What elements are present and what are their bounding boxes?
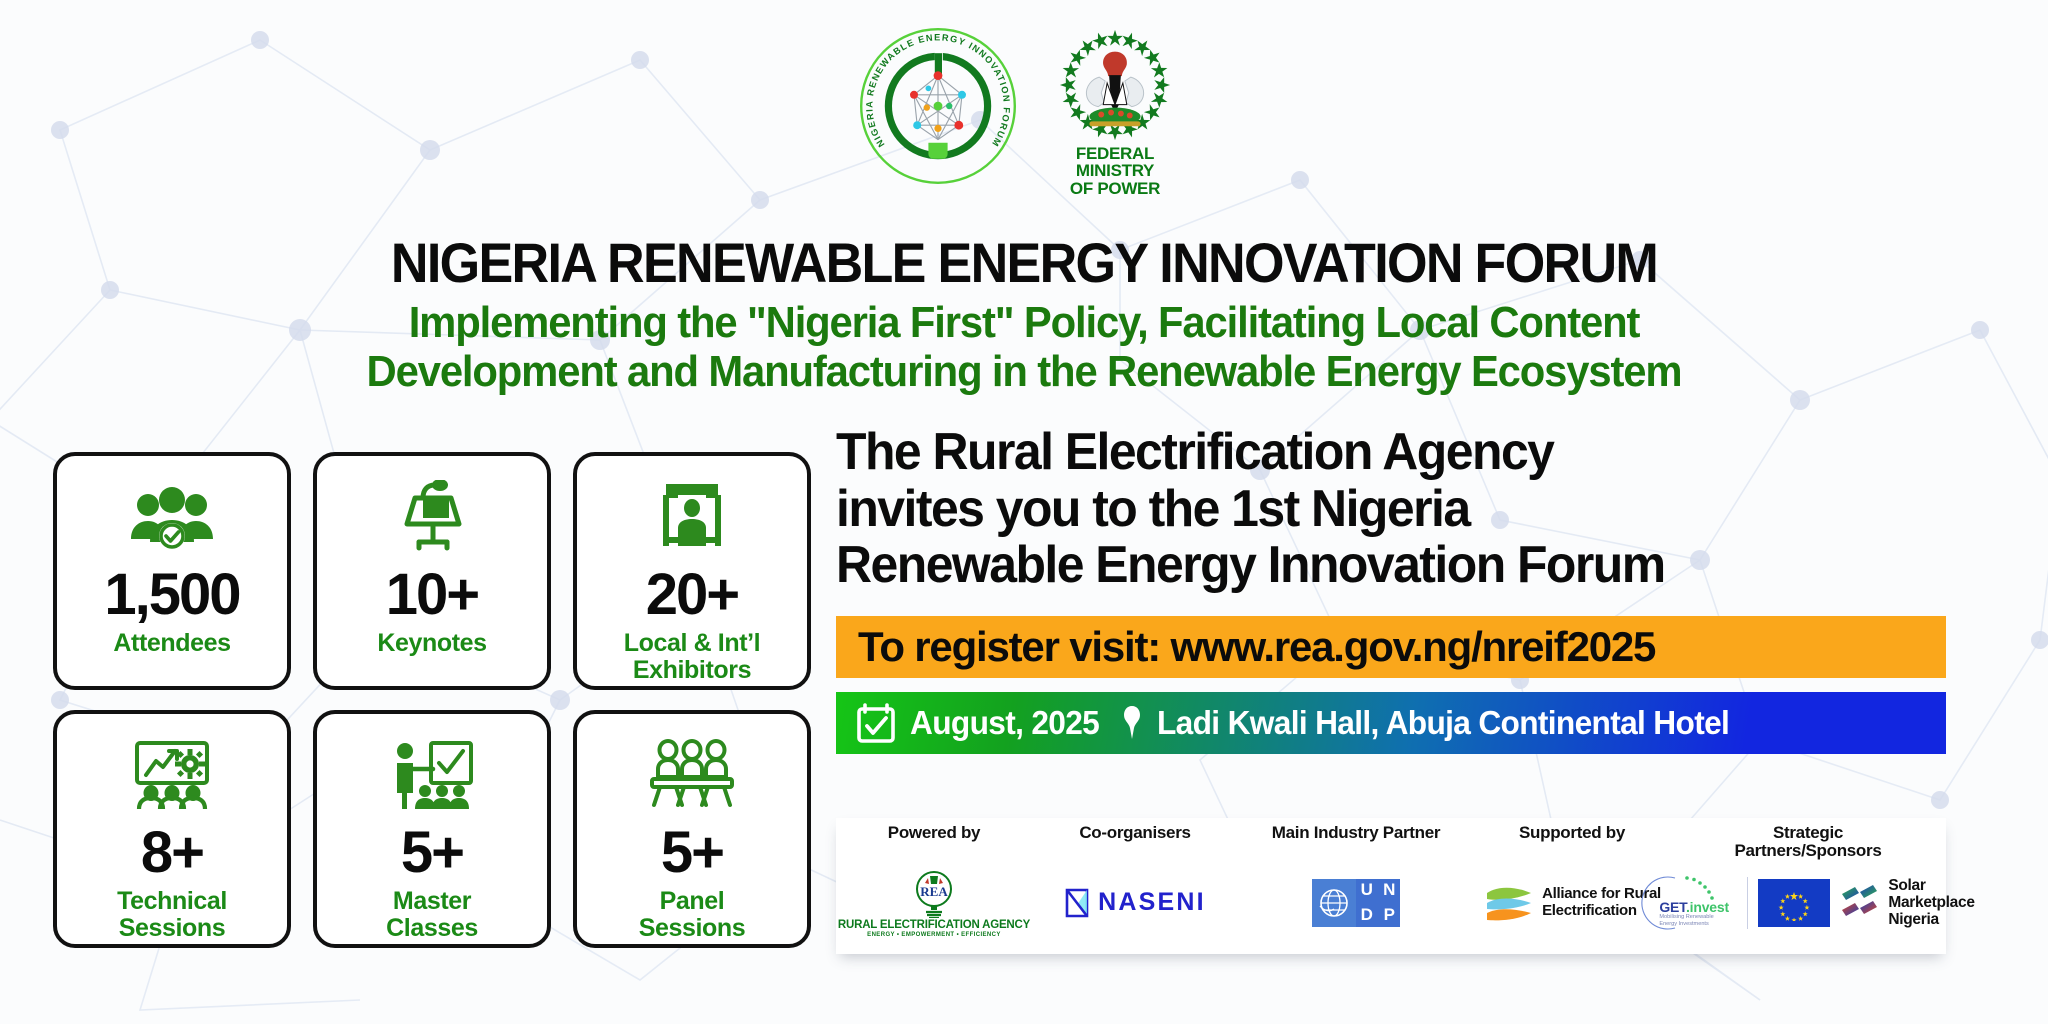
are-waves-icon — [1483, 879, 1535, 927]
event-subtitle: Implementing the "Nigeria First" Policy,… — [51, 298, 1997, 397]
solar-line-3: Nigeria — [1888, 911, 1974, 928]
stat-number: 5+ — [661, 824, 723, 882]
teacher-whiteboard-icon — [389, 736, 475, 814]
undp-letter: P — [1379, 903, 1401, 927]
getinvest-accent: .invest — [1686, 899, 1729, 915]
stat-card-panel-sessions: 5+ Panel Sessions — [573, 710, 811, 948]
solar-line-2: Marketplace — [1888, 894, 1974, 911]
partners-panel: Powered by Co-organisers Main Industry P… — [836, 818, 1946, 954]
partner-logo-naseni: NASENI — [1032, 887, 1238, 919]
partner-logo-undp: U N D P — [1238, 879, 1474, 927]
partner-heading: Co-organisers — [1032, 824, 1238, 860]
podium-microphone-icon — [393, 478, 471, 556]
headline-line-2: invites you to the 1st Nigeria — [836, 481, 1902, 538]
partner-heading: Supported by — [1474, 824, 1670, 860]
stat-card-technical-sessions: 8+ Technical Sessions — [53, 710, 291, 948]
svg-text:REA: REA — [920, 884, 948, 899]
register-url-text: To register visit: www.rea.gov.ng/nreif2… — [858, 623, 1655, 671]
partner-logo-solar-marketplace-nigeria: Solar Marketplace Nigeria — [1840, 877, 1974, 929]
stat-label: Panel Sessions — [639, 888, 746, 941]
stat-card-exhibitors: 20+ Local & Int’l Exhibitors — [573, 452, 811, 690]
partner-heading: Strategic Partners/Sponsors — [1670, 824, 1946, 860]
stat-card-keynotes: 10+ Keynotes — [313, 452, 551, 690]
partner-headings: Powered by Co-organisers Main Industry P… — [836, 818, 1946, 860]
rea-name: RURAL ELECTRIFICATION AGENCY — [838, 919, 1030, 931]
stat-card-attendees: 1,500 Attendees — [53, 452, 291, 690]
stat-label: Technical Sessions — [117, 888, 227, 941]
vertical-divider — [1747, 877, 1748, 929]
undp-letter: U — [1356, 879, 1378, 903]
getinvest-tagline-1: Mobilising Renewable — [1659, 914, 1713, 922]
invitation-headline: The Rural Electrification Agency invites… — [836, 424, 1902, 594]
rea-seal-icon: REA — [909, 868, 959, 918]
attendees-group-icon — [129, 478, 215, 556]
naseni-name: NASENI — [1098, 888, 1206, 917]
event-date: August, 2025 — [910, 704, 1099, 742]
european-union-flag-icon — [1758, 879, 1830, 927]
nreif-forum-logo: NIGERIA RENEWABLE ENERGY INNOVATION FORU… — [858, 26, 1018, 186]
header-logos: NIGERIA RENEWABLE ENERGY INNOVATION FORU… — [0, 26, 2048, 197]
event-main-title: NIGERIA RENEWABLE ENERGY INNOVATION FORU… — [72, 230, 1977, 295]
map-pin-icon — [1121, 702, 1143, 744]
undp-letter: D — [1356, 903, 1378, 927]
register-cta-bar[interactable]: To register visit: www.rea.gov.ng/nreif2… — [836, 616, 1946, 678]
stat-number: 8+ — [141, 824, 203, 882]
partner-logo-get-invest: GET.invest Mobilising Renewable Energy I… — [1641, 872, 1737, 934]
ministry-name: FEDERAL MINISTRY OF POWER — [1070, 145, 1160, 197]
undp-globe-icon — [1312, 879, 1356, 927]
partner-logo-rea: REA RURAL ELECTRIFICATION AGENCY ENERGY … — [836, 868, 1032, 938]
undp-letter: N — [1379, 879, 1401, 903]
presentation-chart-gear-icon — [127, 736, 217, 814]
headline-line-3: Renewable Energy Innovation Forum — [836, 537, 1902, 594]
solar-marketplace-mark-icon — [1840, 883, 1880, 923]
exhibition-booth-icon — [656, 478, 728, 556]
partner-heading: Powered by — [836, 824, 1032, 860]
stat-label: Local & Int’l Exhibitors — [624, 630, 760, 683]
partner-logos-strategic: GET.invest Mobilising Renewable Energy I… — [1670, 872, 1946, 934]
getinvest-word: GET — [1659, 899, 1686, 915]
stat-number: 20+ — [646, 566, 738, 624]
subtitle-line-2: Development and Manufacturing in the Ren… — [51, 347, 1997, 396]
partner-heading: Main Industry Partner — [1238, 824, 1474, 860]
stats-grid: 1,500 Attendees 10+ Keynotes — [53, 452, 811, 948]
partner-logos-row: REA RURAL ELECTRIFICATION AGENCY ENERGY … — [836, 860, 1946, 946]
stat-label: Master Classes — [386, 888, 478, 941]
stat-label: Attendees — [113, 630, 230, 657]
invitation-column: The Rural Electrification Agency invites… — [836, 424, 1946, 754]
stat-label: Keynotes — [377, 630, 486, 657]
headline-line-1: The Rural Electrification Agency — [836, 424, 1902, 481]
naseni-mark-icon — [1064, 887, 1090, 919]
getinvest-tagline-2: Energy Investments — [1659, 921, 1713, 929]
event-venue: Ladi Kwali Hall, Abuja Continental Hotel — [1157, 704, 1729, 742]
subtitle-line-1: Implementing the "Nigeria First" Policy,… — [51, 298, 1997, 347]
panel-seated-people-icon — [644, 736, 740, 814]
calendar-check-icon — [856, 702, 896, 744]
rea-tagline: ENERGY • EMPOWERMENT • EFFICIENCY — [867, 932, 1001, 938]
solar-line-1: Solar — [1888, 877, 1974, 894]
federal-ministry-of-power-seal — [1056, 26, 1174, 144]
stat-number: 10+ — [386, 566, 478, 624]
stat-number: 5+ — [401, 824, 463, 882]
date-venue-bar: August, 2025 Ladi Kwali Hall, Abuja Cont… — [836, 692, 1946, 754]
stat-card-master-classes: 5+ Master Classes — [313, 710, 551, 948]
stat-number: 1,500 — [104, 566, 239, 624]
